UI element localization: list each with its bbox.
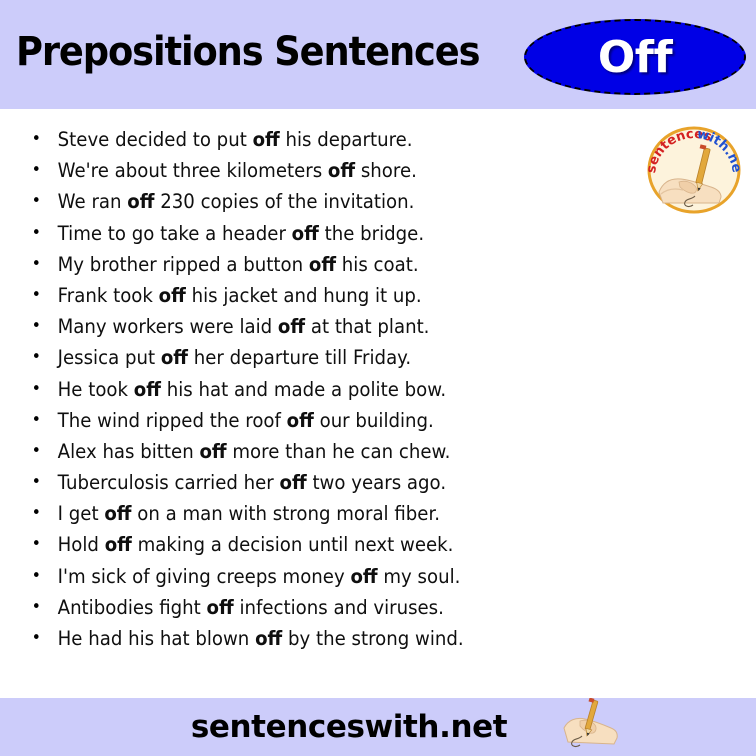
sentence-text-after: by the strong wind. bbox=[282, 627, 463, 650]
sentence-item: •The wind ripped the roof off our buildi… bbox=[0, 405, 703, 436]
sentence-keyword: off bbox=[328, 159, 355, 182]
bullet-icon: • bbox=[32, 467, 41, 498]
sentence-keyword: off bbox=[278, 315, 305, 338]
bullet-icon: • bbox=[32, 561, 41, 592]
preposition-badge: Off bbox=[524, 19, 746, 95]
preposition-badge-label: Off bbox=[526, 21, 744, 93]
sentence-text-after: shore. bbox=[355, 159, 417, 182]
sentence-keyword: off bbox=[105, 533, 132, 556]
sentence-keyword: off bbox=[280, 471, 307, 494]
sentence-text-before: The wind ripped the roof bbox=[58, 409, 287, 432]
sentence-text-after: his departure. bbox=[280, 128, 413, 151]
sentence-text-before: Jessica put bbox=[58, 346, 161, 369]
bullet-icon: • bbox=[32, 280, 41, 311]
sentence-text-before: He took bbox=[58, 378, 134, 401]
sentence-text-before: Time to go take a header bbox=[58, 222, 292, 245]
bullet-icon: • bbox=[32, 623, 41, 654]
bullet-icon: • bbox=[32, 529, 41, 560]
sentence-keyword: off bbox=[134, 378, 161, 401]
bullet-icon: • bbox=[32, 405, 41, 436]
sentence-text-after: on a man with strong moral fiber. bbox=[131, 502, 440, 525]
sentence-text-after: our building. bbox=[314, 409, 434, 432]
sentence-keyword: off bbox=[350, 565, 377, 588]
page-root: Prepositions Sentences Off sentences wit… bbox=[0, 0, 756, 756]
sentence-keyword: off bbox=[309, 253, 336, 276]
sentence-keyword: off bbox=[253, 128, 280, 151]
sentence-keyword: off bbox=[255, 627, 282, 650]
sentence-text-after: making a decision until next week. bbox=[132, 533, 454, 556]
sentence-keyword: off bbox=[104, 502, 131, 525]
bullet-icon: • bbox=[32, 311, 41, 342]
page-header: Prepositions Sentences Off bbox=[0, 0, 756, 109]
page-title: Prepositions Sentences bbox=[16, 29, 479, 75]
sentence-text-before: Many workers were laid bbox=[58, 315, 278, 338]
sentence-text-after: his hat and made a polite bow. bbox=[161, 378, 446, 401]
sentence-text-after: my soul. bbox=[378, 565, 461, 588]
sentence-item: •Alex has bitten off more than he can ch… bbox=[0, 436, 703, 467]
sentence-item: •Time to go take a header off the bridge… bbox=[0, 218, 703, 249]
bullet-icon: • bbox=[32, 498, 41, 529]
sentence-text-before: Steve decided to put bbox=[58, 128, 253, 151]
footer-site-name: sentenceswith.net bbox=[0, 698, 756, 756]
sentence-text-before: He had his hat blown bbox=[58, 627, 255, 650]
sentence-keyword: off bbox=[292, 222, 319, 245]
bullet-icon: • bbox=[32, 124, 41, 155]
bullet-icon: • bbox=[32, 592, 41, 623]
sentence-keyword: off bbox=[207, 596, 234, 619]
bullet-icon: • bbox=[32, 342, 41, 373]
sentence-keyword: off bbox=[159, 284, 186, 307]
bullet-icon: • bbox=[32, 249, 41, 280]
sentence-text-after: more than he can chew. bbox=[227, 440, 451, 463]
sentence-keyword: off bbox=[199, 440, 226, 463]
sentence-text-before: Antibodies fight bbox=[58, 596, 207, 619]
sentence-text-before: My brother ripped a button bbox=[58, 253, 309, 276]
footer-hand-pencil-icon bbox=[556, 698, 620, 754]
sentence-keyword: off bbox=[161, 346, 188, 369]
sentence-text-after: the bridge. bbox=[319, 222, 424, 245]
sentence-item: •Jessica put off her departure till Frid… bbox=[0, 342, 703, 373]
sentence-text-before: We're about three kilometers bbox=[58, 159, 328, 182]
sentence-item: •Antibodies fight off infections and vir… bbox=[0, 592, 703, 623]
sentence-text-after: at that plant. bbox=[305, 315, 429, 338]
bullet-icon: • bbox=[32, 186, 41, 217]
sentence-item: •I'm sick of giving creeps money off my … bbox=[0, 561, 703, 592]
sentence-text-after: his coat. bbox=[336, 253, 419, 276]
sentence-text-before: I'm sick of giving creeps money bbox=[58, 565, 351, 588]
sentence-item: •Many workers were laid off at that plan… bbox=[0, 311, 703, 342]
sentence-keyword: off bbox=[287, 409, 314, 432]
sentence-text-before: Hold bbox=[58, 533, 105, 556]
sentence-text-before: Tuberculosis carried her bbox=[58, 471, 280, 494]
sentence-list: •Steve decided to put off his departure.… bbox=[0, 124, 756, 654]
sentence-item: •We ran off 230 copies of the invitation… bbox=[0, 186, 703, 217]
sentence-keyword: off bbox=[127, 190, 154, 213]
page-footer: sentenceswith.net bbox=[0, 698, 756, 756]
bullet-icon: • bbox=[32, 218, 41, 249]
sentence-text-after: infections and viruses. bbox=[234, 596, 444, 619]
sentence-text-before: Frank took bbox=[58, 284, 159, 307]
sentence-item: •My brother ripped a button off his coat… bbox=[0, 249, 703, 280]
sentence-text-before: Alex has bitten bbox=[58, 440, 200, 463]
sentence-item: •Steve decided to put off his departure. bbox=[0, 124, 703, 155]
sentence-item: •Hold off making a decision until next w… bbox=[0, 529, 703, 560]
sentence-text-after: her departure till Friday. bbox=[188, 346, 411, 369]
bullet-icon: • bbox=[32, 155, 41, 186]
sentence-item: •We're about three kilometers off shore. bbox=[0, 155, 703, 186]
sentence-text-before: We ran bbox=[58, 190, 128, 213]
sentence-item: •I get off on a man with strong moral fi… bbox=[0, 498, 703, 529]
sentence-text-before: I get bbox=[58, 502, 105, 525]
sentence-item: •He took off his hat and made a polite b… bbox=[0, 374, 703, 405]
sentence-item: •He had his hat blown off by the strong … bbox=[0, 623, 703, 654]
sentence-item: •Frank took off his jacket and hung it u… bbox=[0, 280, 703, 311]
bullet-icon: • bbox=[32, 374, 41, 405]
sentence-text-after: his jacket and hung it up. bbox=[186, 284, 422, 307]
bullet-icon: • bbox=[32, 436, 41, 467]
sentence-text-after: 230 copies of the invitation. bbox=[154, 190, 414, 213]
sentence-item: •Tuberculosis carried her off two years … bbox=[0, 467, 703, 498]
sentence-text-after: two years ago. bbox=[307, 471, 446, 494]
